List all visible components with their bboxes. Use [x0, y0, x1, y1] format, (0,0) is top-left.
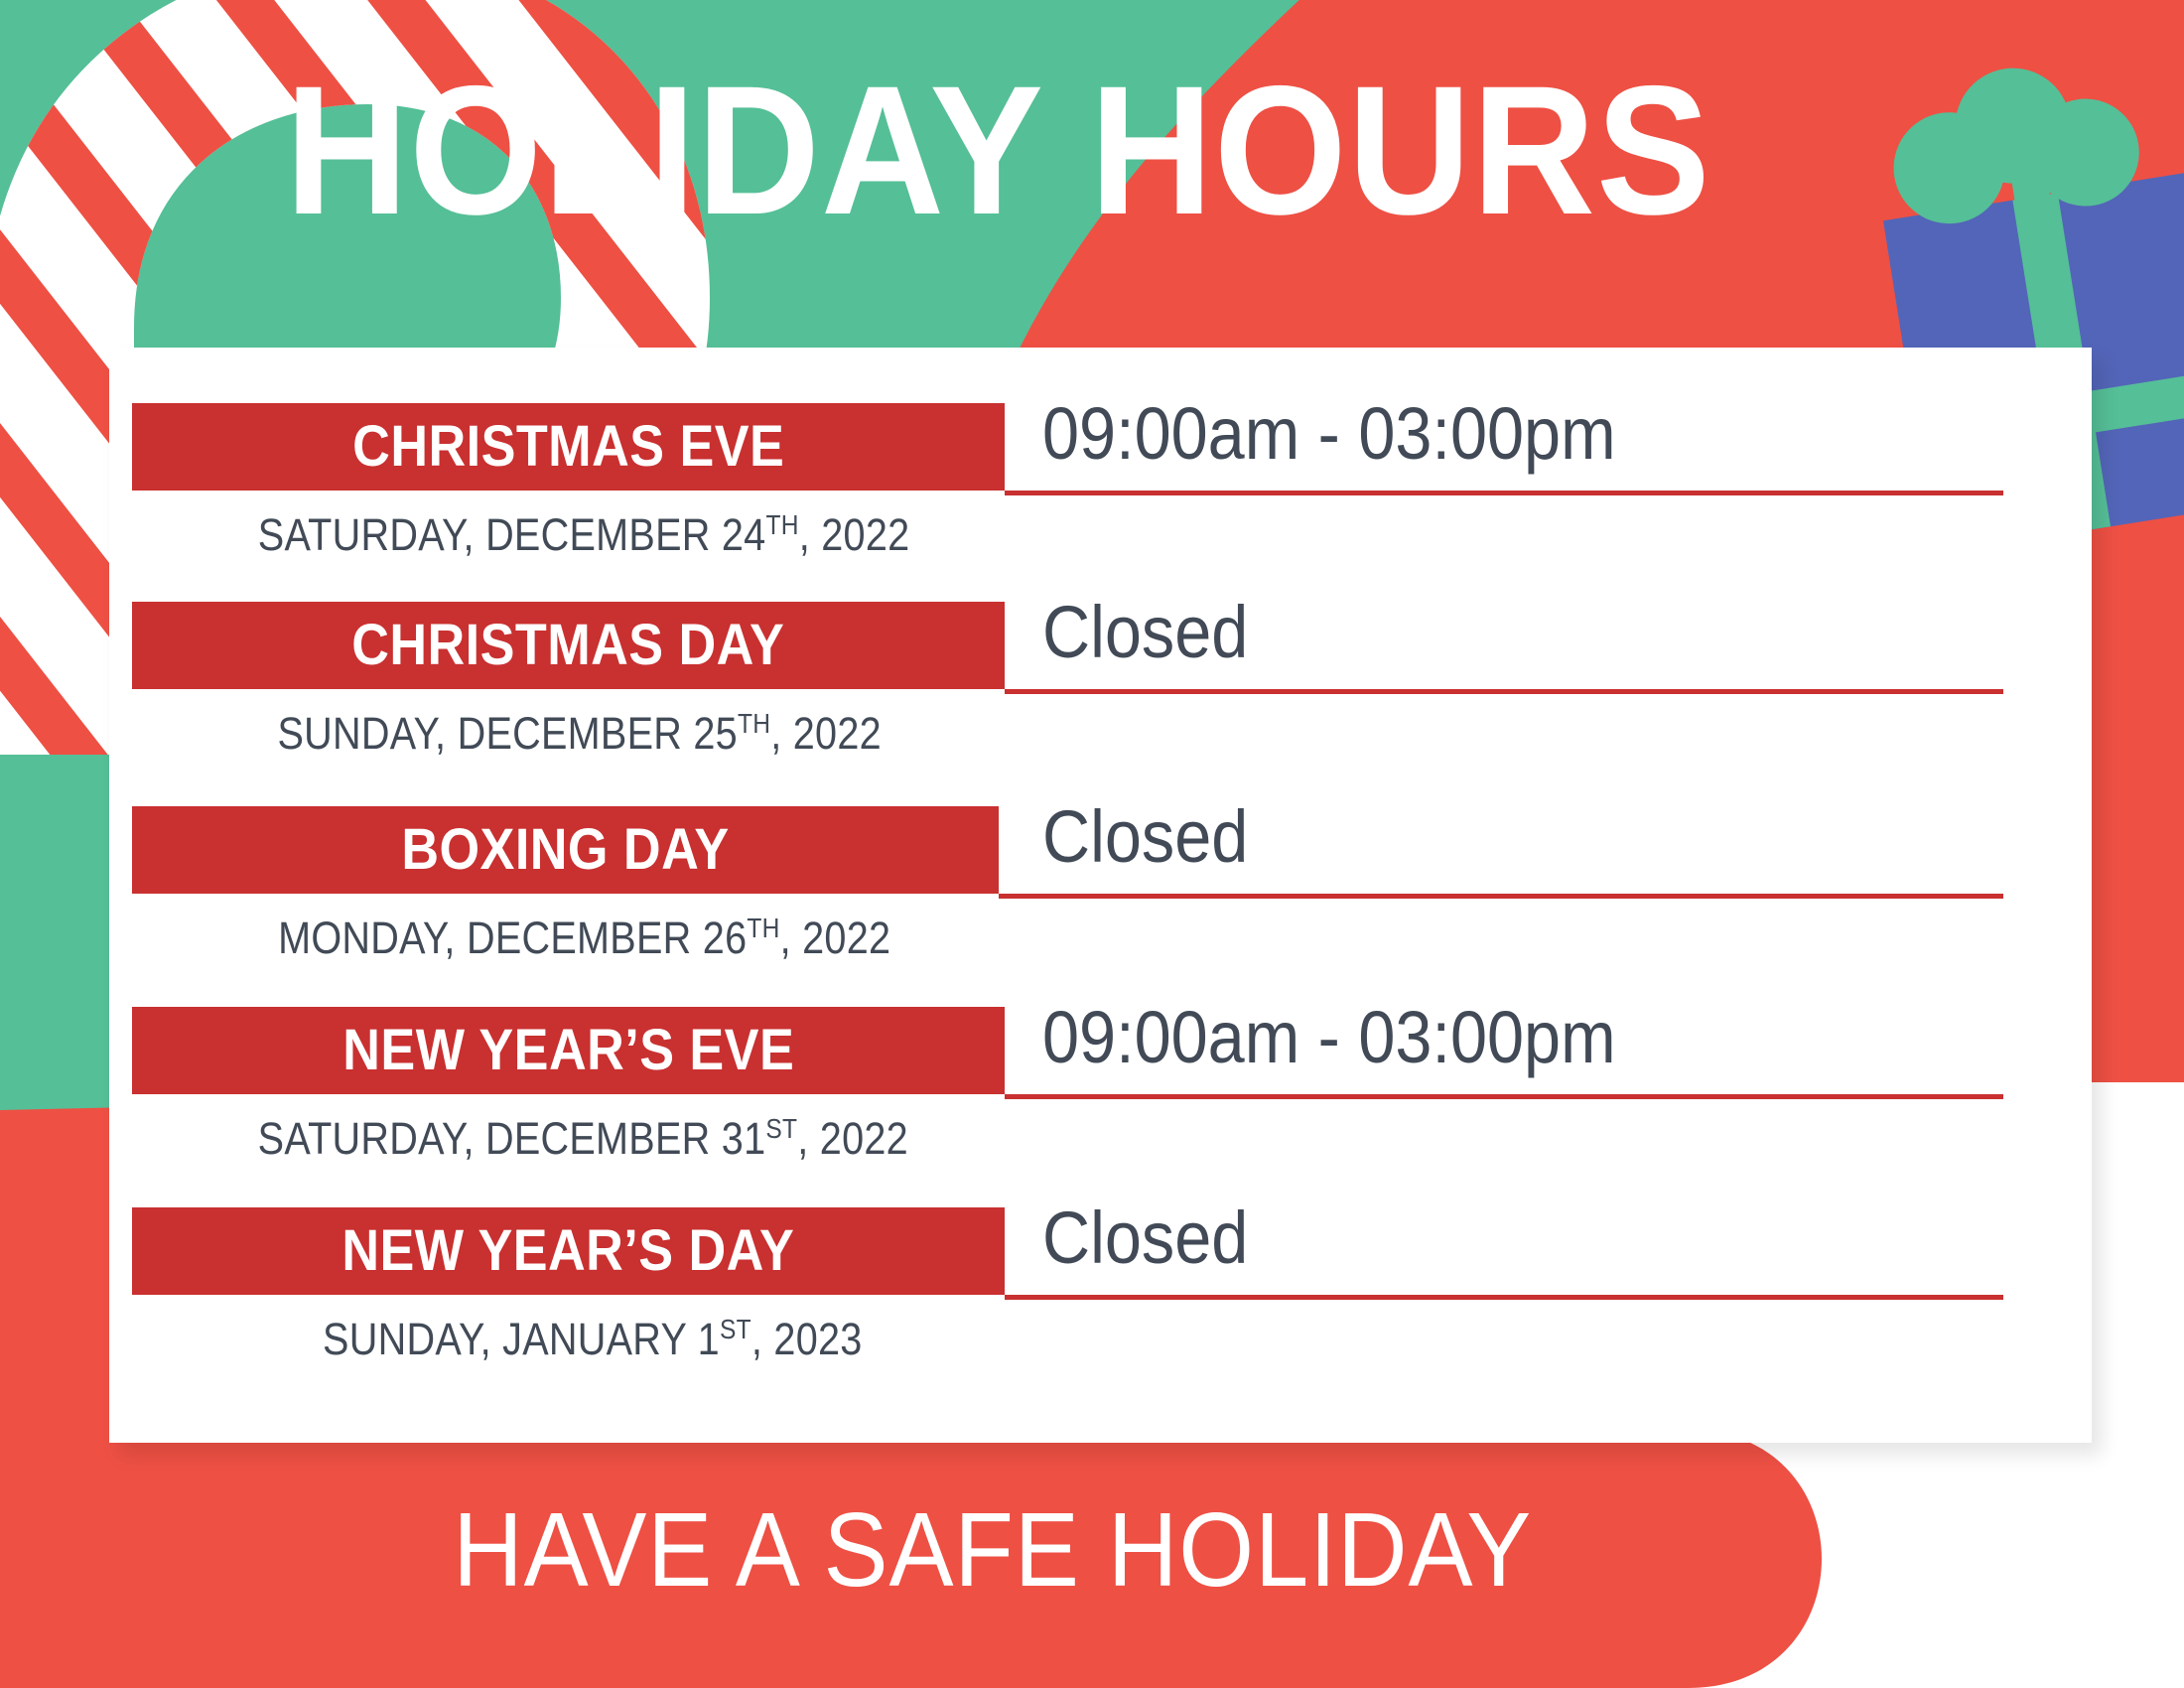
row-divider: [999, 894, 2003, 899]
holiday-date: SUNDAY, DECEMBER 25TH, 2022: [277, 711, 881, 756]
date-suffix: , 2022: [770, 708, 882, 759]
schedule-card: CHRISTMAS EVE 09:00am - 03:00pm SATURDAY…: [109, 348, 2092, 1443]
holiday-label-chip: NEW YEAR’S DAY: [132, 1207, 1005, 1295]
holiday-label-chip: CHRISTMAS EVE: [132, 403, 1005, 491]
date-prefix: SUNDAY, JANUARY 1: [323, 1314, 720, 1364]
date-ordinal: TH: [738, 708, 770, 739]
date-ordinal: ST: [720, 1314, 751, 1344]
holiday-hours-value: 09:00am - 03:00pm: [1042, 1001, 1616, 1074]
date-suffix: , 2022: [797, 1113, 908, 1164]
holiday-hours-value: Closed: [1042, 596, 1248, 669]
row-divider: [1005, 1094, 2003, 1099]
holiday-label-chip: BOXING DAY: [132, 806, 999, 894]
holiday-hours-value: Closed: [1042, 1201, 1248, 1275]
date-ordinal: ST: [765, 1113, 797, 1144]
row-divider: [1005, 1295, 2003, 1300]
holiday-name: CHRISTMAS EVE: [352, 418, 784, 476]
holiday-hours-value: Closed: [1042, 800, 1248, 874]
date-ordinal: TH: [747, 913, 779, 943]
date-prefix: MONDAY, DECEMBER 26: [278, 913, 747, 963]
holiday-name: NEW YEAR’S EVE: [342, 1022, 794, 1079]
holiday-hours-poster: HOLIDAY HOURS CHRISTMAS EVE 09:00am - 03…: [0, 0, 2184, 1688]
holiday-date: MONDAY, DECEMBER 26TH, 2022: [278, 915, 890, 960]
row-divider: [1005, 689, 2003, 694]
red-footer-band: [0, 1430, 1822, 1688]
date-prefix: SUNDAY, DECEMBER 25: [277, 708, 737, 759]
schedule-rows: CHRISTMAS EVE 09:00am - 03:00pm SATURDAY…: [109, 348, 2092, 1443]
holiday-date: SATURDAY, DECEMBER 24TH, 2022: [258, 512, 910, 557]
row-divider: [1005, 491, 2003, 495]
date-suffix: , 2022: [780, 913, 891, 963]
date-suffix: , 2022: [799, 509, 910, 560]
holiday-date: SUNDAY, JANUARY 1ST, 2023: [323, 1317, 863, 1361]
date-suffix: , 2023: [751, 1314, 863, 1364]
holiday-name: NEW YEAR’S DAY: [342, 1222, 795, 1280]
holiday-name: CHRISTMAS DAY: [351, 617, 784, 674]
holiday-date: SATURDAY, DECEMBER 31ST, 2022: [258, 1116, 908, 1161]
date-ordinal: TH: [765, 509, 798, 540]
date-prefix: SATURDAY, DECEMBER 24: [258, 509, 766, 560]
holiday-label-chip: CHRISTMAS DAY: [132, 602, 1005, 689]
holiday-hours-value: 09:00am - 03:00pm: [1042, 397, 1616, 471]
holiday-label-chip: NEW YEAR’S EVE: [132, 1007, 1005, 1094]
holiday-name: BOXING DAY: [401, 821, 729, 879]
date-prefix: SATURDAY, DECEMBER 31: [258, 1113, 766, 1164]
